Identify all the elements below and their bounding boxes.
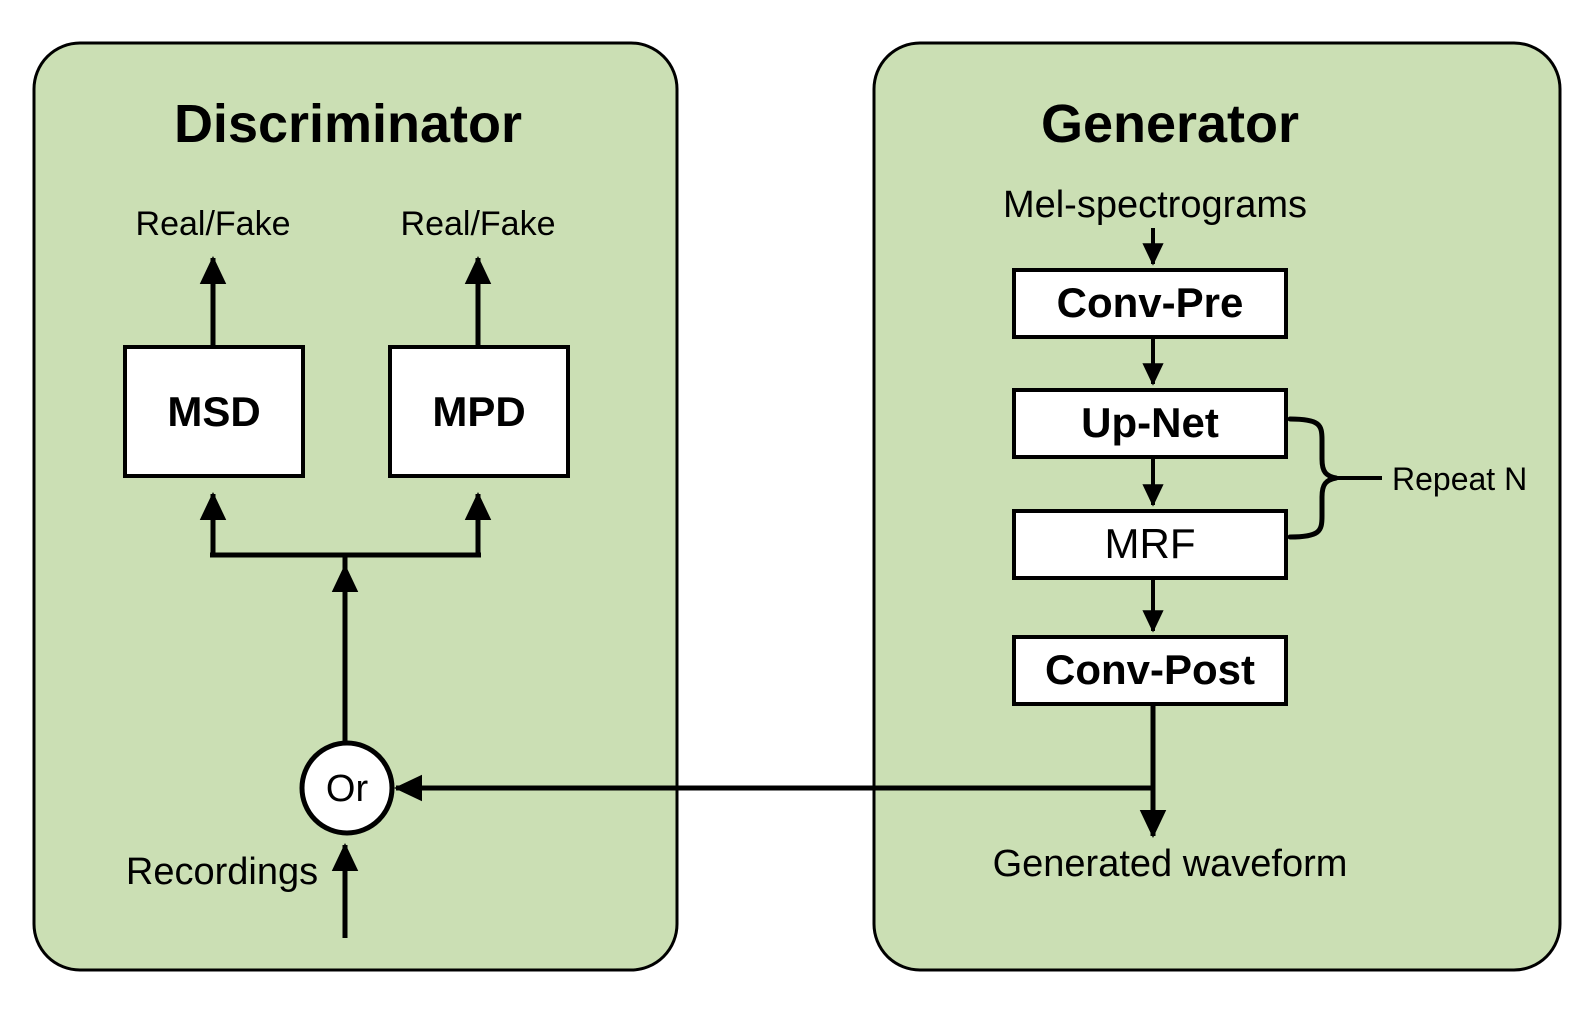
generator-panel-title: Generator <box>1041 94 1299 154</box>
generator-panel-background <box>874 43 1560 970</box>
conv-post-block-label: Conv-Post <box>1045 646 1255 693</box>
mpd-block-label: MPD <box>432 388 525 435</box>
generator-panel: Generator Mel-spectrograms Conv-Pre Up-N… <box>874 43 1560 970</box>
discriminator-panel-title: Discriminator <box>174 94 522 154</box>
msd-block-label: MSD <box>167 388 260 435</box>
generated-waveform-output-label: Generated waveform <box>993 843 1348 885</box>
diagram-canvas: Discriminator Real/Fake Real/Fake MSD MP… <box>0 0 1594 1018</box>
recordings-input-label: Recordings <box>126 851 318 893</box>
repeat-n-label: Repeat N <box>1392 461 1527 497</box>
architecture-diagram: Discriminator Real/Fake Real/Fake MSD MP… <box>0 0 1594 1018</box>
mrf-block-label: MRF <box>1105 520 1196 567</box>
or-selector-label: Or <box>326 768 369 810</box>
discriminator-panel: Discriminator Real/Fake Real/Fake MSD MP… <box>34 43 677 970</box>
msd-output-label: Real/Fake <box>136 205 291 243</box>
up-net-block-label: Up-Net <box>1081 399 1219 446</box>
conv-pre-block-label: Conv-Pre <box>1057 279 1244 326</box>
mpd-output-label: Real/Fake <box>401 205 556 243</box>
mel-spectrograms-input-label: Mel-spectrograms <box>1003 184 1307 226</box>
